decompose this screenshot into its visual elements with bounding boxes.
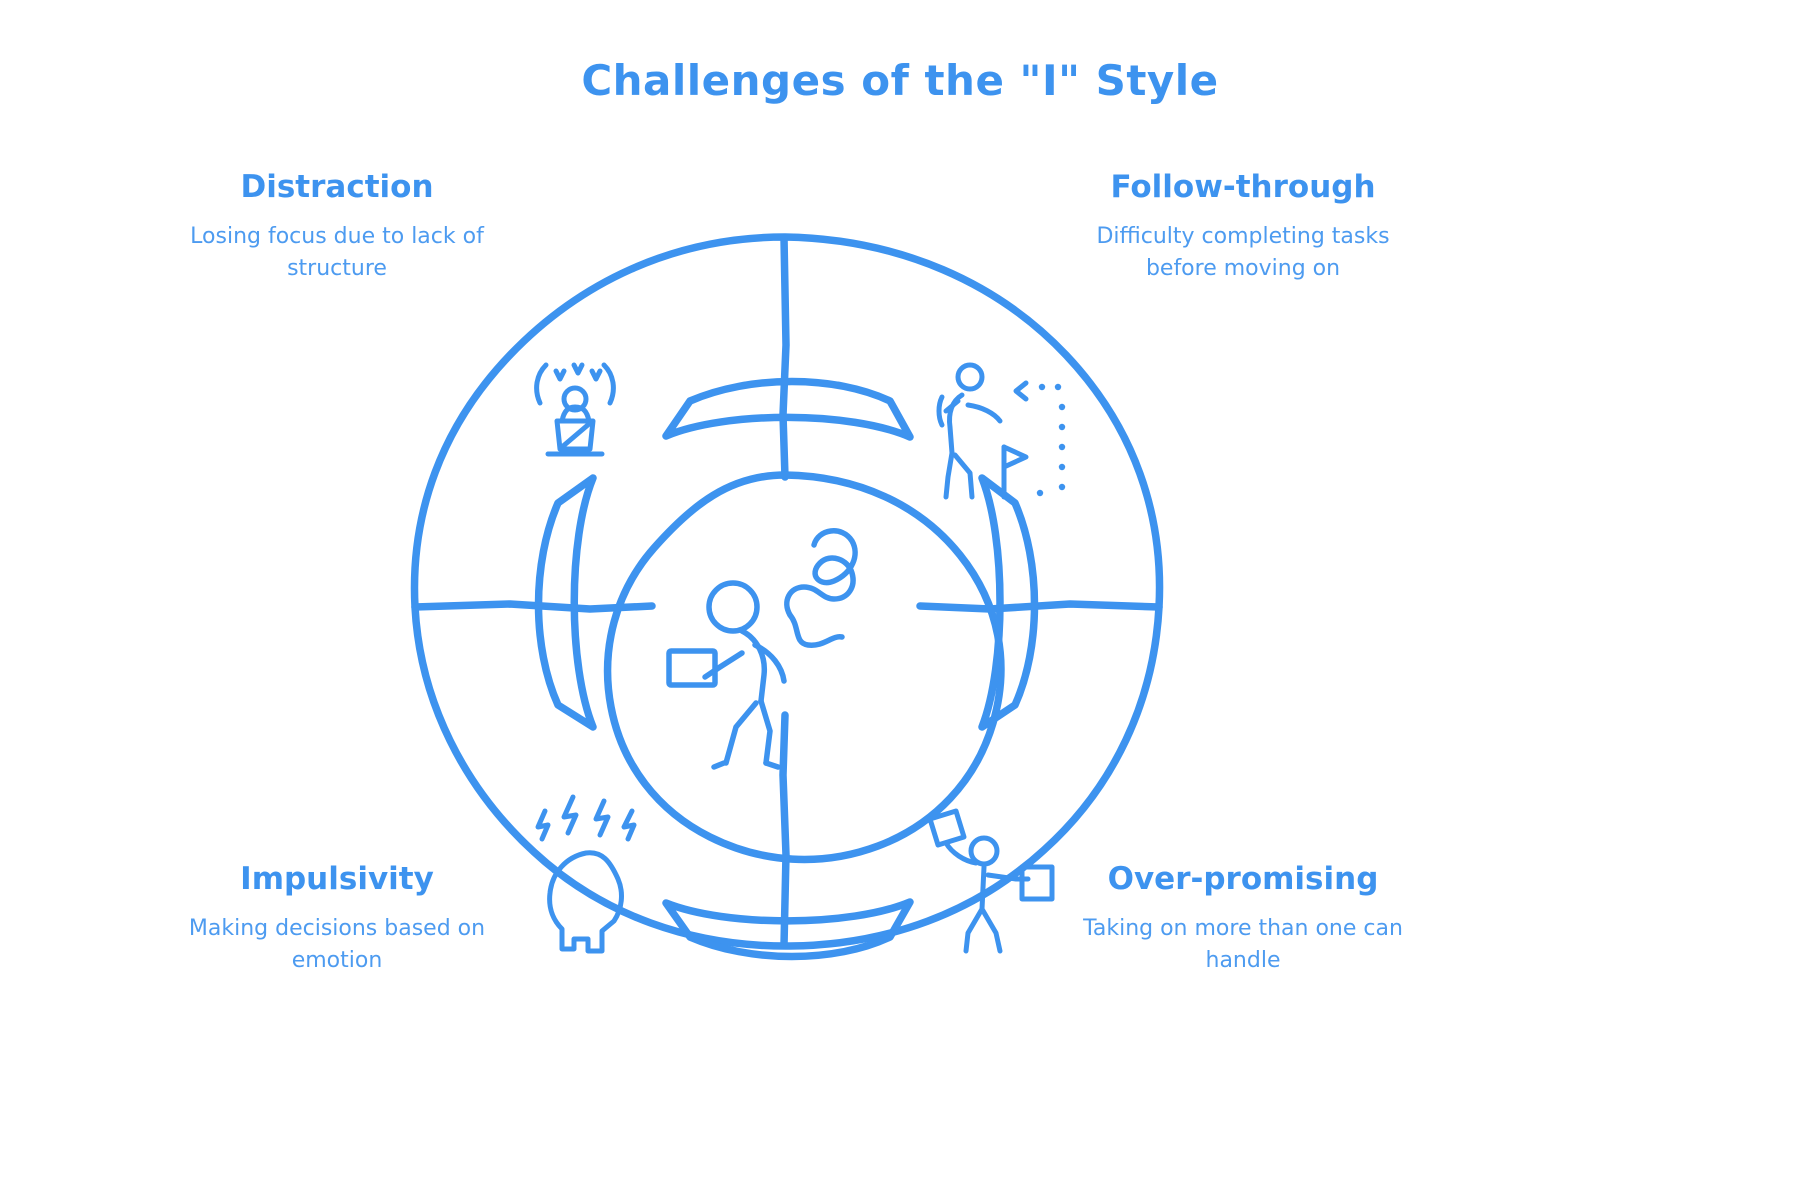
person-walking-with-briefcase-icon [669,531,855,767]
person-at-podium-with-sound-waves-icon [537,365,614,454]
quadrant-heading: Follow-through [1078,170,1408,204]
radial-wheel-diagram [390,215,1180,1005]
person-juggling-boxes-icon [930,811,1052,951]
ring-dividers [415,238,1159,945]
quadrant-heading: Distraction [172,170,502,204]
diagram-canvas: Challenges of the "I" Style Distraction … [0,0,1800,1200]
person-walking-away-from-dotted-path-icon [939,365,1065,497]
head-profile-with-lightning-bolts-icon [538,797,634,951]
page-title: Challenges of the "I" Style [0,56,1800,105]
